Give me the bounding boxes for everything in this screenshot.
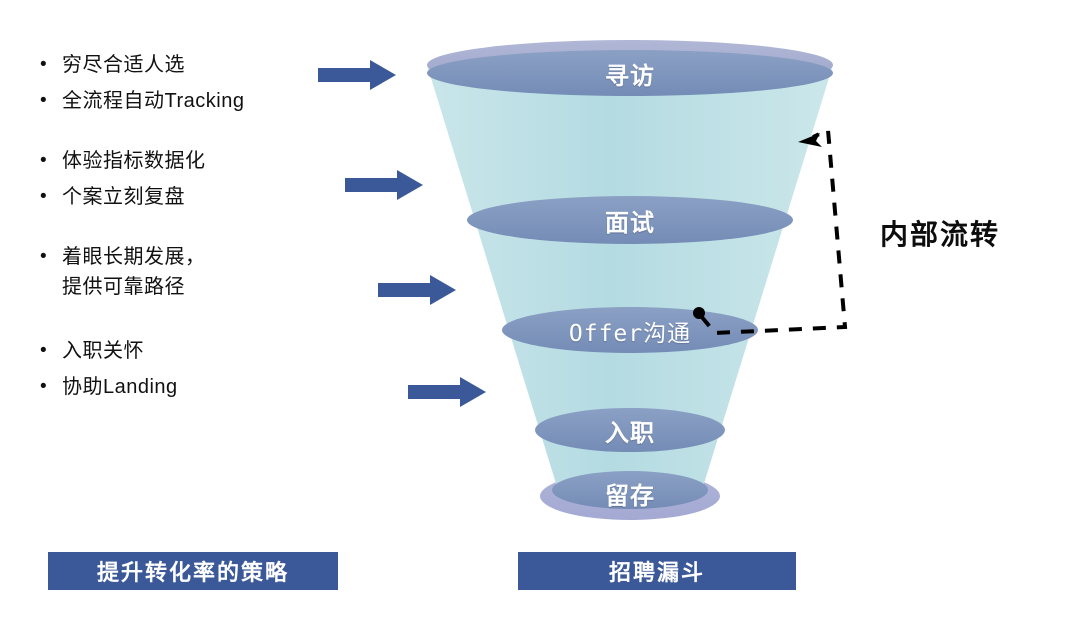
loop-dashed-path bbox=[701, 130, 845, 333]
bullet-text: 入职关怀 bbox=[62, 336, 144, 366]
funnel-disc-onboarding bbox=[535, 408, 725, 452]
list-item: • 入职关怀 bbox=[40, 336, 340, 366]
bullet-text: 体验指标数据化 bbox=[62, 146, 206, 176]
bullet-dot-icon: • bbox=[40, 336, 62, 366]
list-item: • 体验指标数据化 bbox=[40, 146, 340, 176]
loop-arrowhead-icon bbox=[798, 133, 822, 147]
list-item: • 着眼长期发展， 提供可靠路径 bbox=[40, 242, 340, 302]
bullet-dot-icon: • bbox=[40, 86, 62, 116]
bullet-dot-icon: • bbox=[40, 146, 62, 176]
list-item: • 协助Landing bbox=[40, 372, 340, 402]
strategy-bullet-column: • 穷尽合适人选 • 全流程自动Tracking • 体验指标数据化 • 个案立… bbox=[40, 50, 340, 428]
bullet-dot-icon: • bbox=[40, 50, 62, 80]
list-item: • 个案立刻复盘 bbox=[40, 182, 340, 212]
bullet-text: 个案立刻复盘 bbox=[62, 182, 185, 212]
bullet-text: 着眼长期发展， 提供可靠路径 bbox=[62, 242, 206, 302]
caption-funnel-banner: 招聘漏斗 bbox=[518, 552, 796, 590]
bullet-group-offer: • 着眼长期发展， 提供可靠路径 bbox=[40, 242, 340, 302]
bullet-text: 穷尽合适人选 bbox=[62, 50, 185, 80]
bullet-dot-icon: • bbox=[40, 242, 62, 272]
bullet-text: 全流程自动Tracking bbox=[62, 86, 244, 116]
internal-transfer-label: 内部流转 bbox=[880, 213, 1000, 253]
funnel-disc-retention bbox=[552, 471, 708, 509]
bullet-dot-icon: • bbox=[40, 182, 62, 212]
bullet-group-interview: • 体验指标数据化 • 个案立刻复盘 bbox=[40, 146, 340, 212]
list-item: • 穷尽合适人选 bbox=[40, 50, 340, 80]
caption-strategy-banner: 提升转化率的策略 bbox=[48, 552, 338, 590]
bullet-text: 协助Landing bbox=[62, 372, 178, 402]
list-item: • 全流程自动Tracking bbox=[40, 86, 340, 116]
funnel-disc-sourcing bbox=[427, 50, 833, 96]
bullet-dot-icon: • bbox=[40, 372, 62, 402]
arrow-to-sourcing-icon bbox=[318, 60, 396, 90]
bullet-group-onboarding: • 入职关怀 • 协助Landing bbox=[40, 336, 340, 402]
bullet-group-sourcing: • 穷尽合适人选 • 全流程自动Tracking bbox=[40, 50, 340, 116]
